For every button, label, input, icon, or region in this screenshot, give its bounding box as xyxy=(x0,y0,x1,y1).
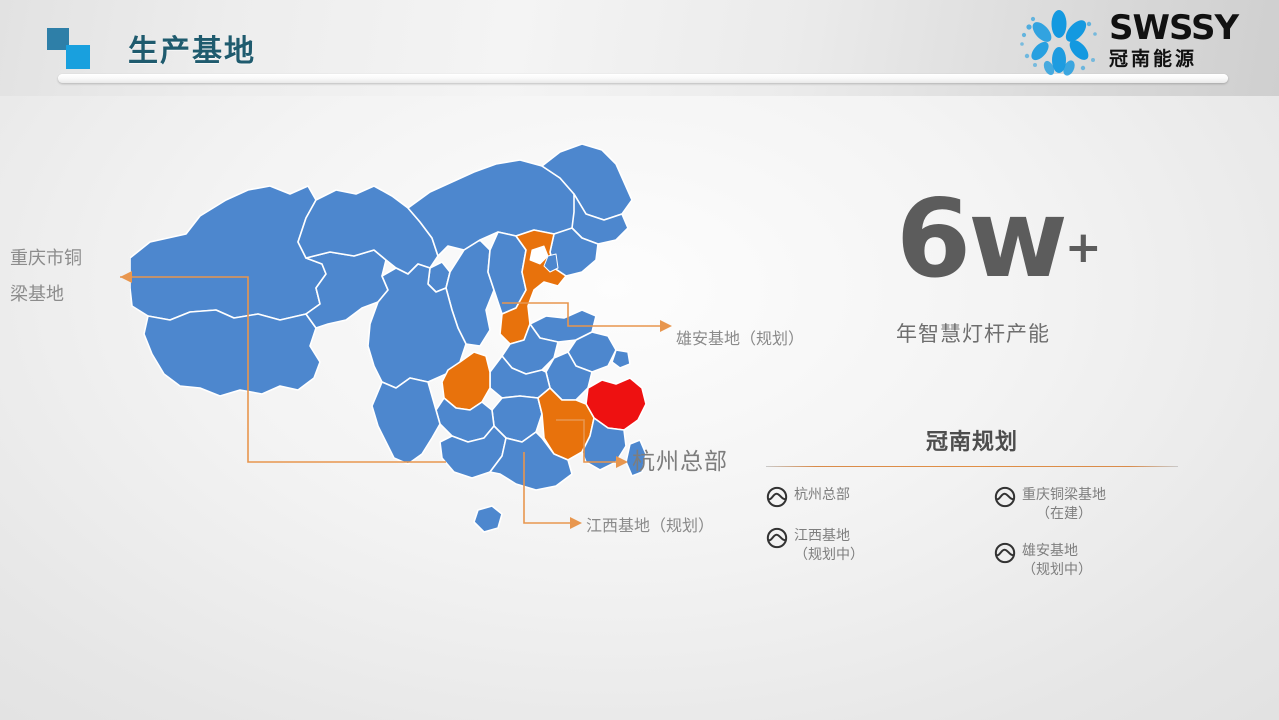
region-xinjiang xyxy=(130,186,326,320)
plan-item-text: 雄安基地 （规划中） xyxy=(1022,541,1092,579)
petal-burst-logo-icon xyxy=(1013,8,1105,76)
plan-item-line2: （规划中） xyxy=(794,545,864,564)
slide: 生产基地 xyxy=(0,0,1279,720)
callout-chongqing-line1: 重庆市铜 xyxy=(10,240,82,276)
plan-item-text: 江西基地 （规划中） xyxy=(794,526,864,564)
callout-label-xiongan: 雄安基地（规划） xyxy=(676,325,804,355)
capacity-stat: 6w+ 年智慧灯杆产能 xyxy=(896,186,1226,348)
brand-logo: SWSSY 冠南能源 xyxy=(1013,6,1263,78)
china-map-svg xyxy=(130,138,670,568)
plan-item-line2: （规划中） xyxy=(1022,560,1092,579)
plan-item-chongqing[interactable]: 重庆铜梁基地 （在建） xyxy=(972,485,1178,523)
capacity-caption: 年智慧灯杆产能 xyxy=(896,318,1226,348)
plan-divider xyxy=(766,466,1178,467)
region-shanghai xyxy=(612,350,630,368)
region-tibet xyxy=(144,310,320,396)
brand-name-en: SWSSY xyxy=(1109,10,1238,46)
plan-item-line1: 江西基地 xyxy=(794,527,850,543)
region-hainan xyxy=(474,506,502,532)
callout-label-hangzhou: 杭州总部 xyxy=(632,446,728,476)
wave-circle-icon xyxy=(994,542,1016,564)
capacity-number: 6w xyxy=(896,177,1065,302)
callout-label-jiangxi: 江西基地（规划） xyxy=(586,512,714,542)
china-map[interactable] xyxy=(130,138,670,568)
plan-item-text: 重庆铜梁基地 （在建） xyxy=(1022,485,1106,523)
plan-item-xiongan[interactable]: 雄安基地 （规划中） xyxy=(972,541,1178,579)
plan-grid: 杭州总部 江西基地 （规划中） xyxy=(766,485,1178,597)
region-yunnan xyxy=(372,378,440,464)
wave-circle-icon xyxy=(766,527,788,549)
plan-panel: 冠南规划 杭州总部 xyxy=(766,424,1178,597)
plan-item-hangzhou[interactable]: 杭州总部 xyxy=(766,485,972,508)
plan-item-line1: 雄安基地 xyxy=(1022,542,1078,558)
plan-item-jiangxi[interactable]: 江西基地 （规划中） xyxy=(766,526,972,564)
callout-chongqing-line2: 梁基地 xyxy=(10,276,82,312)
brand-name-cn: 冠南能源 xyxy=(1109,48,1238,72)
plan-column-right: 重庆铜梁基地 （在建） 雄安基地 （规划中） xyxy=(972,485,1178,597)
plan-item-line1: 杭州总部 xyxy=(794,486,850,502)
plan-item-text: 杭州总部 xyxy=(794,485,850,504)
plan-item-line1: 重庆铜梁基地 xyxy=(1022,486,1106,502)
callout-label-chongqing: 重庆市铜 梁基地 xyxy=(10,240,82,312)
brand-text: SWSSY 冠南能源 xyxy=(1109,10,1238,72)
capacity-number-row: 6w+ xyxy=(896,186,1226,302)
plan-column-left: 杭州总部 江西基地 （规划中） xyxy=(766,485,972,597)
wave-circle-icon xyxy=(766,486,788,508)
wave-circle-icon xyxy=(994,486,1016,508)
decor-square-blue-icon xyxy=(66,45,90,69)
plan-item-line2: （在建） xyxy=(1022,504,1106,523)
capacity-plus: + xyxy=(1065,222,1102,273)
plan-title: 冠南规划 xyxy=(766,424,1178,456)
page-title: 生产基地 xyxy=(128,26,256,70)
